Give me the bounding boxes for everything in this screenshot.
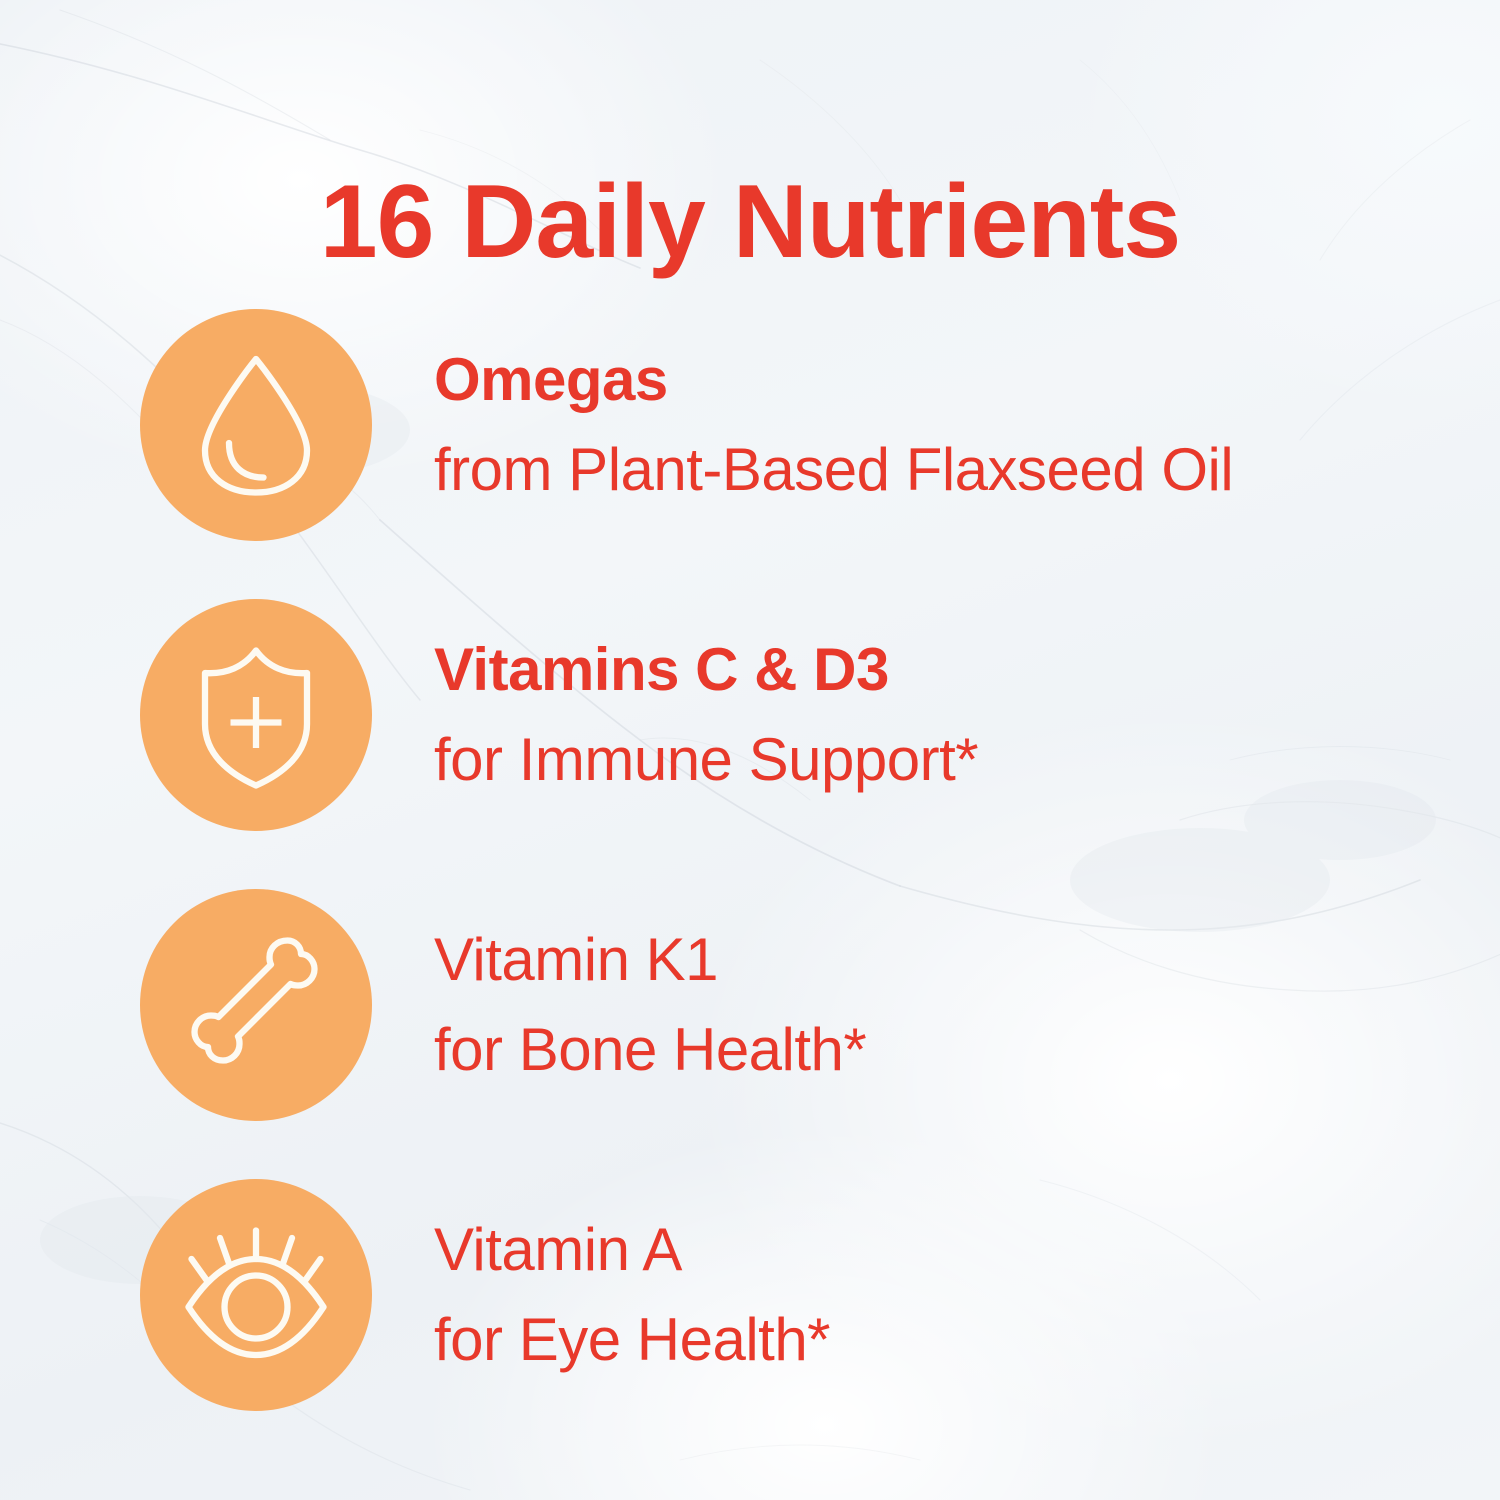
- list-item-text: Vitamins C & D3 for Immune Support*: [434, 640, 978, 790]
- icon-badge: [140, 309, 372, 541]
- icon-badge: [140, 889, 372, 1121]
- list-item-text: Omegas from Plant-Based Flaxseed Oil: [434, 350, 1233, 500]
- list-item-text: Vitamin K1 for Bone Health*: [434, 930, 866, 1080]
- icon-badge: [140, 599, 372, 831]
- list-item-subtitle: for Eye Health*: [434, 1310, 830, 1370]
- list-item-title: Omegas: [434, 350, 1233, 410]
- icon-badge: [140, 1179, 372, 1411]
- list-item: Omegas from Plant-Based Flaxseed Oil: [0, 280, 1500, 570]
- nutrient-list: Omegas from Plant-Based Flaxseed Oil Vit…: [0, 280, 1500, 1440]
- page-title: 16 Daily Nutrients: [0, 166, 1500, 278]
- list-item: Vitamin K1 for Bone Health*: [0, 860, 1500, 1150]
- marble-promo-canvas: 16 Daily Nutrients Omegas from Plant-Bas…: [0, 0, 1500, 1500]
- list-item-subtitle: for Immune Support*: [434, 730, 978, 790]
- list-item-text: Vitamin A for Eye Health*: [434, 1220, 830, 1370]
- list-item-title: Vitamin K1: [434, 930, 866, 990]
- list-item-subtitle: for Bone Health*: [434, 1020, 866, 1080]
- bone-icon: [181, 930, 331, 1080]
- list-item: Vitamin A for Eye Health*: [0, 1150, 1500, 1440]
- eye-icon: [181, 1220, 331, 1370]
- list-item-subtitle: from Plant-Based Flaxseed Oil: [434, 440, 1233, 500]
- list-item-title: Vitamins C & D3: [434, 640, 978, 700]
- droplet-icon: [181, 350, 331, 500]
- shield-plus-icon: [181, 640, 331, 790]
- list-item-title: Vitamin A: [434, 1220, 830, 1280]
- list-item: Vitamins C & D3 for Immune Support*: [0, 570, 1500, 860]
